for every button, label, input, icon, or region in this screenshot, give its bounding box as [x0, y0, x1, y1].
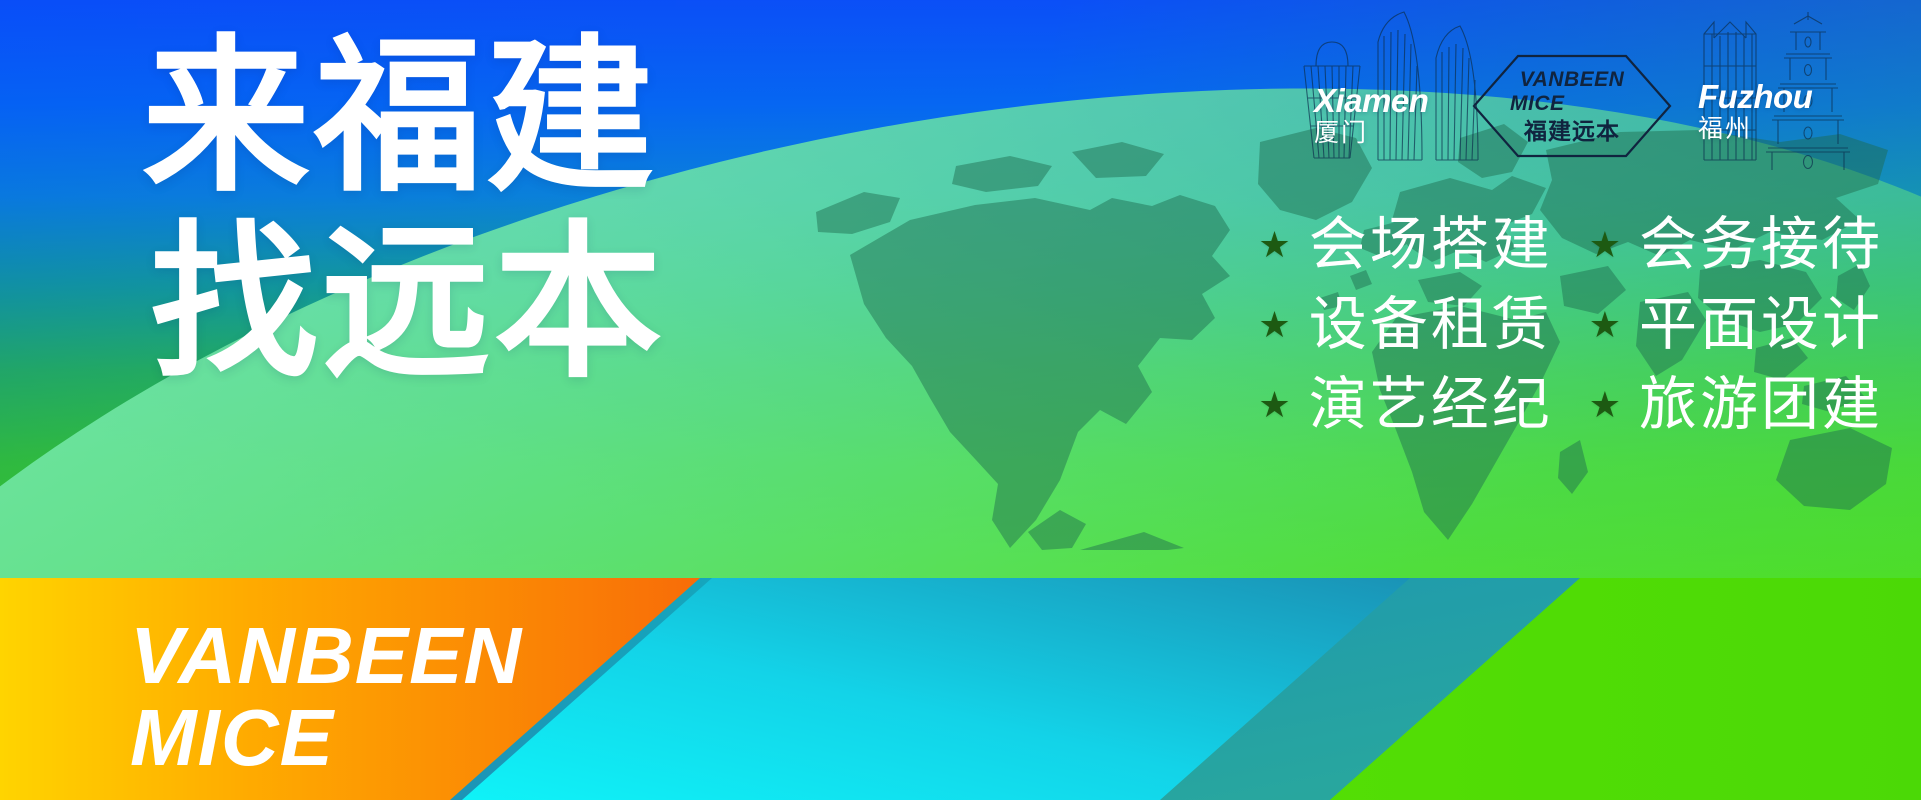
city-name-cn: 厦门	[1314, 118, 1428, 148]
brand-badge: VANBEEN MICE 福建远本	[1472, 54, 1672, 158]
promo-banner: 来福建 找远本 ★ 会场搭建 ★ 会务接待 ★ 设备租赁 ★ 平面设计 ★	[0, 0, 1921, 800]
city-name-en: Xiamen	[1314, 84, 1428, 118]
service-label: 演艺经纪	[1309, 372, 1553, 438]
headline-line-1: 来福建	[142, 38, 666, 196]
headline-line-2: 找远本	[150, 224, 666, 382]
service-label: 设备租赁	[1309, 292, 1553, 358]
service-label: 平面设计	[1639, 292, 1883, 358]
service-label: 会场搭建	[1309, 212, 1553, 278]
service-item[interactable]: ★ 演艺经纪	[1258, 372, 1552, 438]
service-label: 会务接待	[1639, 212, 1883, 278]
badge-en-line-2: MICE	[1510, 93, 1565, 114]
bottom-wordmark: VANBEEN MICE	[130, 616, 522, 778]
city-name-cn: 福州	[1698, 114, 1812, 144]
service-item[interactable]: ★ 会场搭建	[1258, 212, 1552, 278]
brand-badge-text: VANBEEN MICE 福建远本	[1472, 54, 1672, 158]
bottom-brand-bar: VANBEEN MICE	[0, 578, 1921, 800]
star-icon: ★	[1258, 227, 1290, 263]
wordmark-line-1: VANBEEN	[130, 616, 522, 696]
star-icon: ★	[1589, 387, 1621, 423]
service-item[interactable]: ★ 平面设计	[1589, 292, 1883, 358]
banner-main-panel: 来福建 找远本 ★ 会场搭建 ★ 会务接待 ★ 设备租赁 ★ 平面设计 ★	[0, 0, 1921, 578]
city-label-xiamen: Xiamen 厦门	[1314, 84, 1428, 148]
wordmark-line-2: MICE	[130, 698, 522, 778]
badge-en-line-1: VANBEEN	[1520, 69, 1625, 90]
city-name-en: Fuzhou	[1698, 80, 1812, 114]
headline: 来福建 找远本	[142, 38, 666, 382]
star-icon: ★	[1258, 307, 1290, 343]
star-icon: ★	[1589, 227, 1621, 263]
service-item[interactable]: ★ 会务接待	[1589, 212, 1883, 278]
star-icon: ★	[1258, 387, 1290, 423]
badge-cn: 福建远本	[1524, 120, 1620, 143]
service-item[interactable]: ★ 旅游团建	[1589, 372, 1883, 438]
city-brand-lockup: Xiamen 厦门 Fuzhou 福州 VANBEEN MICE 福建远本	[1300, 2, 1910, 172]
service-list: ★ 会场搭建 ★ 会务接待 ★ 设备租赁 ★ 平面设计 ★ 演艺经纪 ★ 旅游团…	[1258, 212, 1883, 438]
star-icon: ★	[1589, 307, 1621, 343]
city-label-fuzhou: Fuzhou 福州	[1698, 80, 1812, 144]
service-label: 旅游团建	[1639, 372, 1883, 438]
service-item[interactable]: ★ 设备租赁	[1258, 292, 1552, 358]
